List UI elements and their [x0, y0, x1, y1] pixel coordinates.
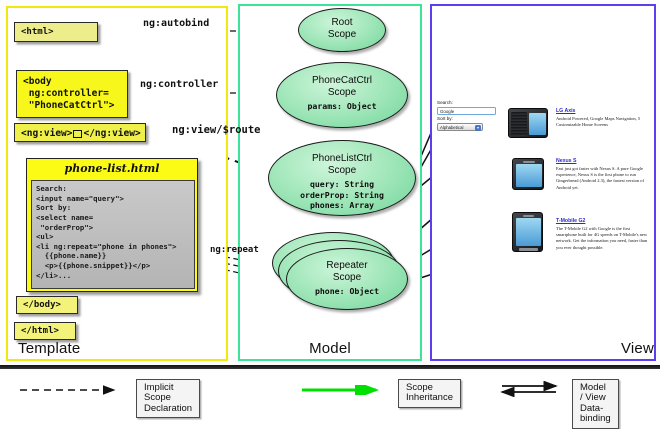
- solid-arrow-icon: [300, 385, 390, 395]
- scope-root-name: Root Scope: [299, 17, 385, 40]
- label-ng-autobind: ng:autobind: [143, 18, 209, 29]
- legend: Implicit Scope Declaration Scope Inherit…: [0, 372, 660, 405]
- view-search-widget: Search: Google Sort by: Alphabetical▾: [437, 100, 501, 131]
- scope-phonecatctrl-name: PhoneCatCtrl Scope: [277, 75, 407, 98]
- legend-label-inheritance: Scope Inheritance: [398, 379, 461, 408]
- legend-label-databinding: Model / View Data-binding: [572, 379, 619, 429]
- phone-thumbnail-nexus-s: [512, 158, 544, 190]
- panel-label-model: Model: [240, 340, 420, 357]
- sort-select-value: Alphabetical: [440, 125, 463, 130]
- listing-snippet-t-mobile-g2: The T-Mobile G2 with Google is the first…: [556, 226, 652, 251]
- placeholder-square-icon: [73, 130, 82, 138]
- scope-phonelistctrl: PhoneListCtrl Scope query: String orderP…: [268, 140, 416, 216]
- scope-phonelistctrl-props: query: String orderProp: String phones: …: [269, 179, 415, 211]
- html-tag-box: <html>: [14, 22, 98, 42]
- sort-label: Sort by:: [437, 116, 501, 123]
- scope-root: Root Scope: [298, 8, 386, 52]
- ngview-close-tag: </ng:view>: [83, 128, 140, 139]
- listing-link-nexus-s[interactable]: Nexus S: [556, 158, 652, 164]
- label-ng-controller: ng:controller: [140, 79, 218, 90]
- callout-title: phone-list.html: [27, 159, 197, 177]
- listing-snippet-nexus-s: Fast just got faster with Nexus S. A pur…: [556, 166, 652, 191]
- label-ng-view-route: ng:view/$route: [172, 124, 261, 136]
- end-html-tag-box: </html>: [14, 322, 76, 340]
- callout-code: Search: <input name="query"> Sort by: <s…: [31, 180, 195, 289]
- scope-phonecatctrl: PhoneCatCtrl Scope params: Object: [276, 62, 408, 128]
- scope-phonecatctrl-props: params: Object: [277, 101, 407, 112]
- search-input[interactable]: Google: [437, 107, 496, 115]
- panel-label-view: View: [432, 340, 660, 357]
- end-body-tag-box: </body>: [16, 296, 78, 314]
- ngview-tag-box: <ng:view></ng:view>: [14, 123, 146, 142]
- phone-list-callout: phone-list.html Search: <input name="que…: [26, 158, 198, 292]
- listing-link-lg-axis[interactable]: LG Axis: [556, 108, 652, 114]
- label-ng-repeat: ng:repeat: [210, 245, 259, 255]
- panel-label-template: Template: [8, 340, 236, 357]
- phone-thumbnail-lg-axis: [508, 108, 548, 138]
- phone-thumbnail-t-mobile-g2: [512, 212, 543, 252]
- double-arrow-icon: [500, 381, 568, 397]
- listing-nexus-s: Nexus S Fast just got faster with Nexus …: [556, 158, 652, 191]
- dashed-arrow-icon: [18, 385, 126, 395]
- scope-repeater-name: Repeater Scope: [287, 260, 407, 283]
- search-label: Search:: [437, 100, 501, 107]
- scope-phonelistctrl-name: PhoneListCtrl Scope: [269, 153, 415, 176]
- listing-lg-axis: LG Axis Android Powered, Google Maps Nav…: [556, 108, 652, 128]
- diagram-stage: Template <html> <body ng:controller= "Ph…: [0, 0, 660, 405]
- body-tag-box: <body ng:controller= "PhoneCatCtrl">: [16, 70, 128, 118]
- listing-t-mobile-g2: T-Mobile G2 The T-Mobile G2 with Google …: [556, 218, 652, 251]
- legend-label-implicit: Implicit Scope Declaration: [136, 379, 200, 418]
- sort-select[interactable]: Alphabetical▾: [437, 123, 483, 132]
- legend-divider: [0, 365, 660, 369]
- scope-repeater-props: phone: Object: [287, 286, 407, 297]
- scope-repeater: Repeater Scope phone: Object: [286, 248, 408, 310]
- chevron-down-icon: ▾: [475, 125, 481, 132]
- listing-snippet-lg-axis: Android Powered, Google Maps Navigation,…: [556, 116, 652, 128]
- listing-link-t-mobile-g2[interactable]: T-Mobile G2: [556, 218, 652, 224]
- ngview-open-tag: <ng:view>: [21, 128, 72, 139]
